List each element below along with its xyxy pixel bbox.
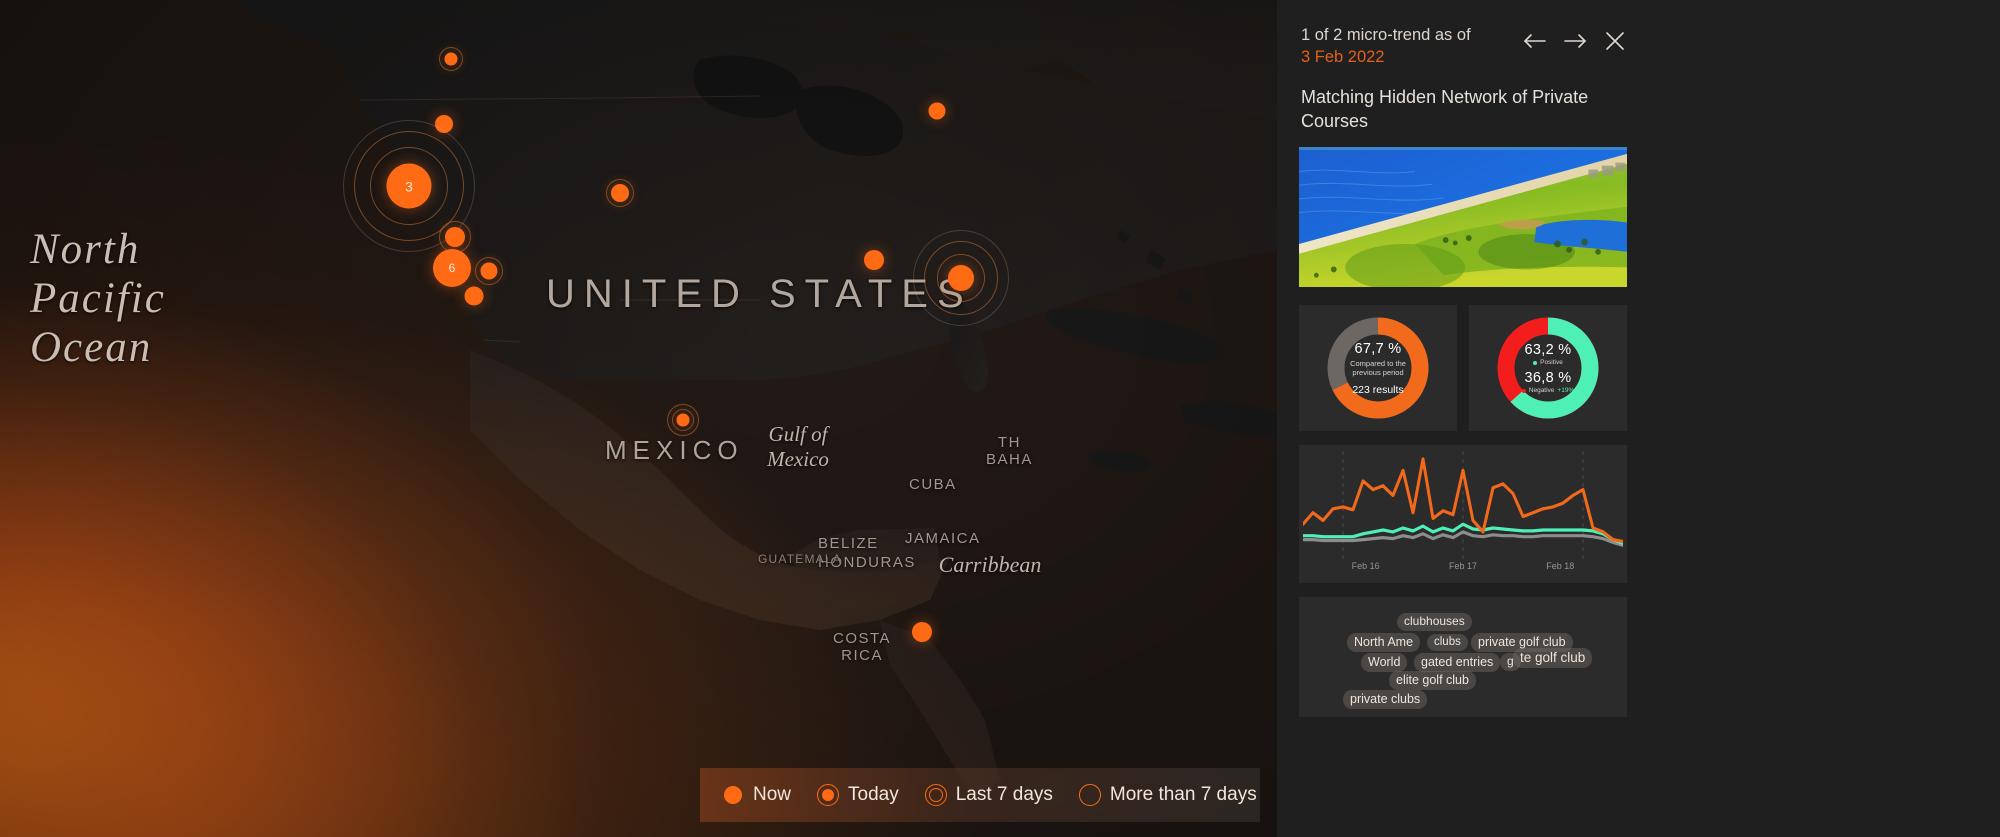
comparison-donut-card: 67,7 % Compared to the previous period 2… xyxy=(1299,305,1457,431)
marker-dot xyxy=(929,103,946,120)
legend-marker-icon xyxy=(817,784,839,806)
application-root: North Pacific Ocean UNITED STATES MEXICO… xyxy=(0,0,2000,837)
x-axis-tick-label: Feb 17 xyxy=(1449,561,1477,571)
tag-chip[interactable]: te golf club xyxy=(1513,648,1592,668)
tag-chip[interactable]: private clubs xyxy=(1343,690,1427,708)
trend-chart-x-axis: Feb 16Feb 17Feb 18 xyxy=(1303,561,1623,571)
sentiment-donut-card: 63,2 % Positive 36,8 % Negative +19% xyxy=(1469,305,1627,431)
marker-dot xyxy=(948,265,974,291)
tag-chip[interactable]: clubs xyxy=(1427,634,1468,651)
panel-header-text: 1 of 2 micro-trend as of 3 Feb 2022 xyxy=(1301,24,1514,69)
arrow-left-icon[interactable] xyxy=(1522,30,1548,52)
sentiment-donut: 63,2 % Positive 36,8 % Negative +19% xyxy=(1492,312,1604,424)
golf-course-illustration xyxy=(1299,150,1627,287)
close-icon[interactable] xyxy=(1602,30,1628,52)
micro-trend-counter: 1 of 2 micro-trend as of xyxy=(1301,26,1471,44)
marker-dot xyxy=(611,184,629,202)
micro-trend-panel: 1 of 2 micro-trend as of 3 Feb 2022 Matc… xyxy=(1277,0,1649,837)
map-legend: NowTodayLast 7 daysMore than 7 days ago xyxy=(700,768,1260,822)
tag-chip[interactable]: clubhouses xyxy=(1397,613,1472,631)
legend-label: Today xyxy=(848,784,899,806)
legend-item-more-than-7-days-ago[interactable]: More than 7 days ago xyxy=(1079,784,1260,806)
tag-chip[interactable]: World xyxy=(1361,653,1407,671)
map-canvas[interactable]: North Pacific Ocean UNITED STATES MEXICO… xyxy=(0,0,1277,837)
legend-label: Last 7 days xyxy=(956,784,1053,806)
panel-header: 1 of 2 micro-trend as of 3 Feb 2022 xyxy=(1293,0,1633,69)
arrow-right-icon[interactable] xyxy=(1562,30,1588,52)
tag-chip[interactable]: gated entries xyxy=(1414,653,1500,671)
marker-dot xyxy=(864,250,884,270)
tag-chip[interactable]: North Ame xyxy=(1347,633,1420,651)
comparison-donut-svg xyxy=(1322,312,1434,424)
marker-dot xyxy=(677,414,690,427)
marker-dot xyxy=(445,227,465,247)
marker-dot xyxy=(445,53,458,66)
trend-line-chart-card: Feb 16Feb 17Feb 18 xyxy=(1299,445,1627,583)
x-axis-tick-label: Feb 16 xyxy=(1352,561,1380,571)
marker-dot xyxy=(912,622,932,642)
x-axis-tick-label: Feb 18 xyxy=(1546,561,1574,571)
keyword-tag-cloud: clubhousesNorth Ameclubsprivate golf clu… xyxy=(1299,597,1627,717)
panel-header-controls xyxy=(1522,24,1628,52)
legend-item-now[interactable]: Now xyxy=(722,784,791,806)
trend-line-chart xyxy=(1303,451,1623,559)
legend-marker-icon xyxy=(925,784,947,806)
micro-trend-date: 3 Feb 2022 xyxy=(1301,48,1384,66)
ocean-glow xyxy=(0,0,1277,837)
legend-label: More than 7 days ago xyxy=(1110,784,1260,806)
legend-item-last-7-days[interactable]: Last 7 days xyxy=(925,784,1053,806)
micro-trend-title: Matching Hidden Network of Private Cours… xyxy=(1293,69,1633,134)
sentiment-donut-svg xyxy=(1492,312,1604,424)
legend-marker-icon xyxy=(1079,784,1101,806)
tag-chip[interactable]: elite golf club xyxy=(1389,671,1476,689)
marker-dot xyxy=(481,263,498,280)
comparison-donut: 67,7 % Compared to the previous period 2… xyxy=(1322,312,1434,424)
legend-label: Now xyxy=(753,784,791,806)
legend-item-today[interactable]: Today xyxy=(817,784,899,806)
marker-dot: 6 xyxy=(433,249,471,287)
marker-dot xyxy=(465,287,484,306)
hero-image xyxy=(1299,147,1627,287)
marker-dot: 3 xyxy=(387,164,432,209)
legend-marker-icon xyxy=(722,784,744,806)
donut-cards-row: 67,7 % Compared to the previous period 2… xyxy=(1299,305,1627,431)
